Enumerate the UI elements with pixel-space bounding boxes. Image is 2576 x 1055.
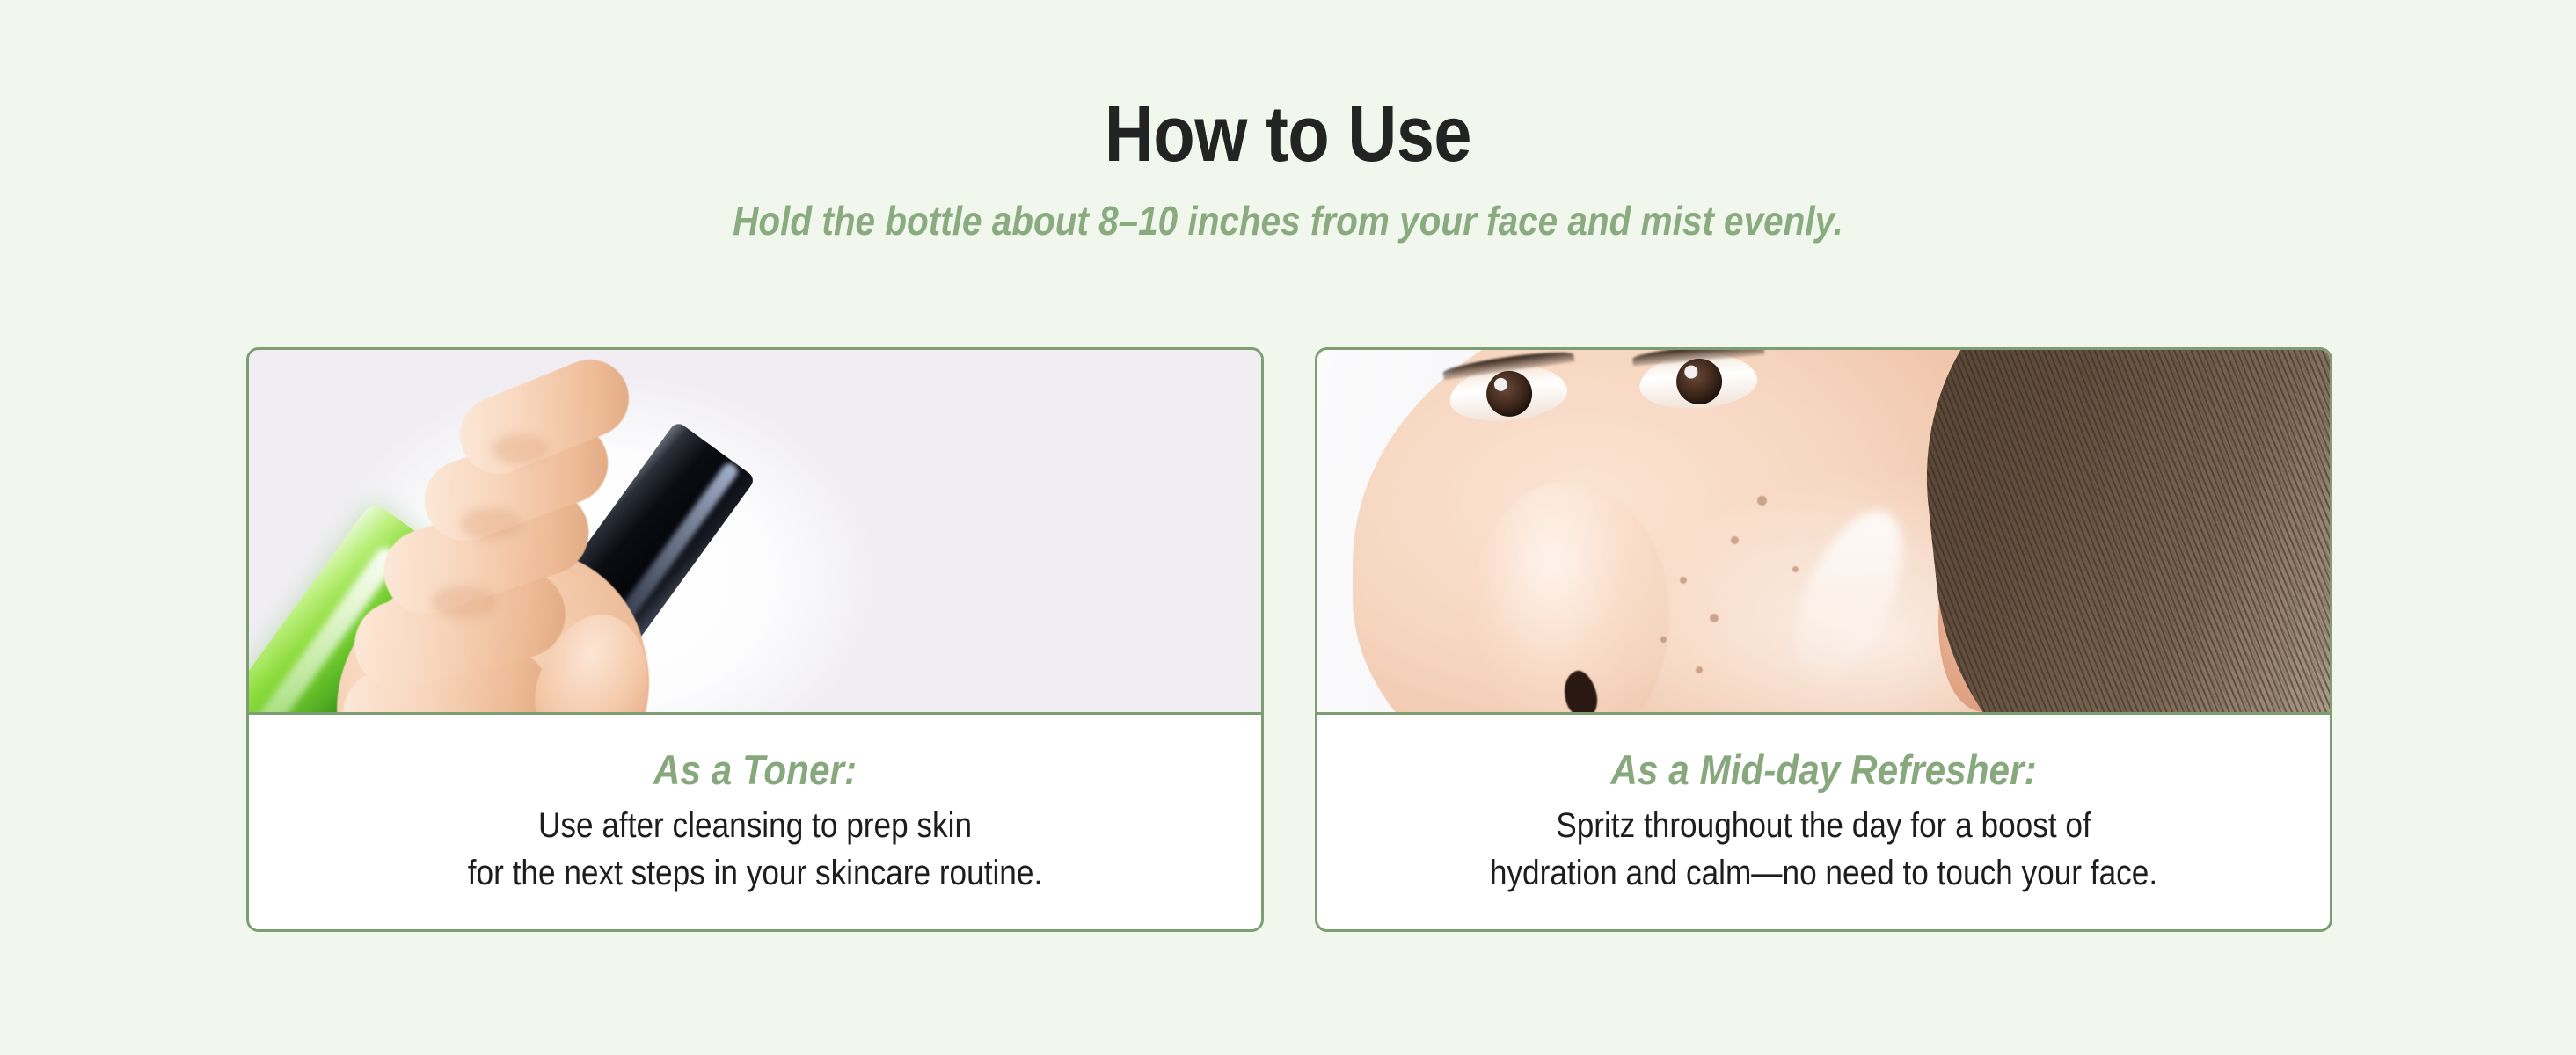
page-subtitle: Hold the bottle about 8–10 inches from y…: [155, 174, 2422, 241]
face-freckle: [1710, 614, 1719, 622]
caption-line: hydration and calm—no need to touch your…: [1378, 849, 2269, 897]
toner-caption-body: Use after cleansing to prep skin for the…: [310, 791, 1200, 897]
face-hair-wisps: [2079, 350, 2330, 715]
usage-card-toner[interactable]: As a Toner: Use after cleansing to prep …: [246, 347, 1264, 932]
face-freckle: [1757, 496, 1767, 506]
refresher-caption-body: Spritz throughout the day for a boost of…: [1378, 791, 2269, 897]
usage-cards-row: As a Toner: Use after cleansing to prep …: [246, 347, 2332, 932]
toner-card-caption: As a Toner: Use after cleansing to prep …: [249, 715, 1261, 929]
hand-knuckle: [460, 508, 522, 540]
hand-holding-spray-bottle-illustration: [249, 350, 1261, 712]
hand-knuckle: [432, 586, 497, 619]
refresher-card-caption: As a Mid-day Refresher: Spritz throughou…: [1317, 715, 2330, 929]
hand-knuckle: [492, 434, 548, 464]
face-freckle: [1731, 536, 1739, 544]
caption-line: Use after cleansing to prep skin: [310, 802, 1200, 849]
toner-caption-title: As a Toner:: [300, 748, 1211, 791]
refresher-caption-title: As a Mid-day Refresher:: [1368, 748, 2280, 791]
section-header: How to Use Hold the bottle about 8–10 in…: [0, 0, 2576, 241]
toner-card-image: [249, 350, 1261, 715]
face-freckle: [1696, 666, 1703, 673]
face-closeup-illustration: [1317, 350, 2330, 712]
usage-card-refresher[interactable]: As a Mid-day Refresher: Spritz throughou…: [1315, 347, 2332, 932]
face-iris: [1485, 368, 1535, 418]
caption-line: for the next steps in your skincare rout…: [310, 849, 1200, 897]
face-iris: [1675, 357, 1724, 406]
face-freckle: [1660, 637, 1667, 643]
page-title: How to Use: [180, 0, 2396, 174]
how-to-use-section: How to Use Hold the bottle about 8–10 in…: [0, 0, 2576, 1055]
face-freckle: [1792, 566, 1799, 572]
caption-line: Spritz throughout the day for a boost of: [1378, 802, 2269, 849]
refresher-card-image: [1317, 350, 2330, 715]
face-freckle: [1680, 577, 1687, 584]
